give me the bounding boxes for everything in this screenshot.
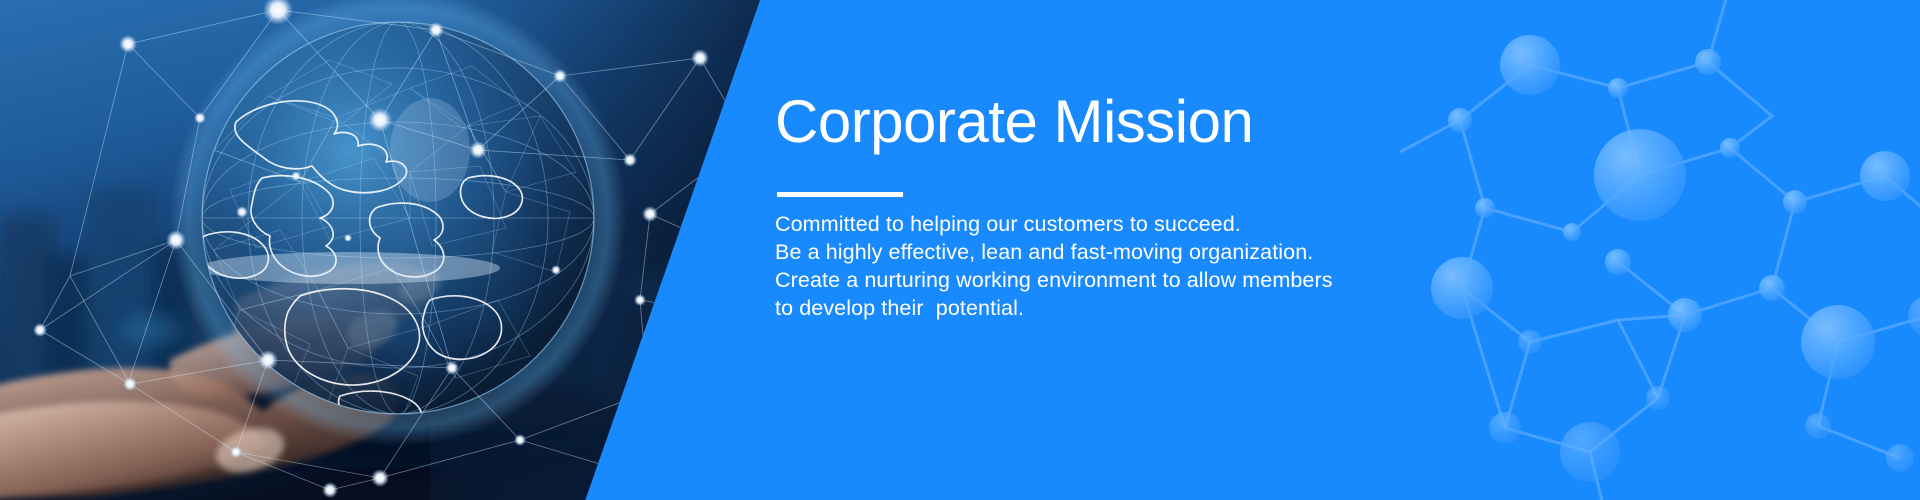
mission-line: Create a nurturing working environment t… xyxy=(775,266,1375,294)
mission-statement: Committed to helping our customers to su… xyxy=(775,210,1375,322)
mission-line: Committed to helping our customers to su… xyxy=(775,210,1375,238)
corporate-mission-banner: Corporate Mission Committed to helping o… xyxy=(0,0,1920,500)
mission-content: Corporate Mission Committed to helping o… xyxy=(775,0,1775,500)
title-divider-rule xyxy=(777,192,903,197)
mission-line: to develop their potential. xyxy=(775,294,1375,322)
mission-line: Be a highly effective, lean and fast-mov… xyxy=(775,238,1375,266)
wireframe-globe xyxy=(170,0,626,446)
page-title: Corporate Mission xyxy=(775,92,1253,152)
